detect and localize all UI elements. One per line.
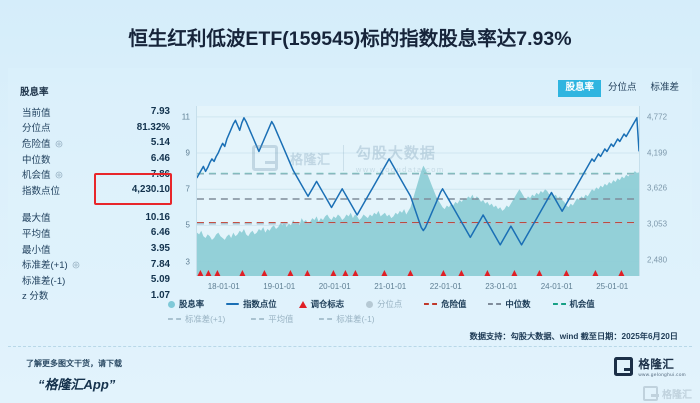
legend-label: 调仓标志 xyxy=(311,298,345,310)
data-source-note: 数据支持：勾股大数据、wind 截至日期：2025年6月20日 xyxy=(470,330,678,342)
legend-item[interactable]: 平均值 xyxy=(251,313,293,325)
stat-row: 最小值3.95 xyxy=(22,241,170,257)
legend-triangle-icon xyxy=(299,301,307,308)
stat-row: 标准差(+1)7.84 xyxy=(22,256,170,272)
legend-label: 指数点位 xyxy=(243,298,277,310)
legend-dash-icon xyxy=(553,303,566,305)
stat-label: 危险值 xyxy=(22,136,51,150)
y-tick-left: 3 xyxy=(186,257,190,266)
legend-row-secondary: 标准差(+1)平均值标准差(-1) xyxy=(168,312,688,326)
x-tick: 19-01-01 xyxy=(263,282,295,291)
rebalance-marker-icon xyxy=(619,270,625,276)
legend-dash-icon xyxy=(424,303,437,305)
y-tick-left: 5 xyxy=(186,221,190,230)
legend-label: 平均值 xyxy=(268,313,293,325)
chart-card: 股息率 股息率分位点标准差 当前值7.93分位点81.32%危险值5.14中位数… xyxy=(8,68,692,336)
plot-svg xyxy=(197,106,639,276)
stats-group-secondary: 最大值10.16平均值6.46最小值3.95标准差(+1)7.84标准差(-1)… xyxy=(22,210,170,304)
tab-3[interactable]: 标准差 xyxy=(643,80,686,97)
stat-value: 81.32% xyxy=(137,122,170,133)
rebalance-marker-icon xyxy=(459,270,465,276)
stat-label: 最小值 xyxy=(22,242,51,256)
stat-label: 分位点 xyxy=(22,120,51,134)
brand-url: www.gelonghui.com xyxy=(638,372,686,377)
rebalance-marker-icon xyxy=(342,270,348,276)
brand-logo-text: 格隆汇 www.gelonghui.com xyxy=(638,356,686,377)
legend-label: 危险值 xyxy=(441,298,466,310)
legend-item[interactable]: 指数点位 xyxy=(226,298,277,310)
brand-logo-ghost-name: 格隆汇 xyxy=(662,386,692,401)
legend-label: 中位数 xyxy=(505,298,530,310)
stat-label: z 分数 xyxy=(22,288,48,302)
stat-row: 分位点81.32% xyxy=(22,120,170,136)
y-tick-right: 3,626 xyxy=(647,184,667,193)
x-axis: 18-01-0119-01-0120-01-0121-01-0122-01-01… xyxy=(196,282,640,296)
stat-row: 机会值7.86 xyxy=(22,166,170,182)
chart-legend: 股息率指数点位调仓标志分位点危险值中位数机会值 标准差(+1)平均值标准差(-1… xyxy=(168,296,688,326)
page-title: 恒生红利低波ETF(159545)标的指数股息率达7.93% xyxy=(0,22,700,51)
legend-dash-icon xyxy=(251,318,264,320)
legend-dot-icon xyxy=(366,301,373,308)
x-tick: 25-01-01 xyxy=(596,282,628,291)
brand-name: 格隆汇 xyxy=(638,356,686,372)
y-tick-right: 4,199 xyxy=(647,148,667,157)
gear-icon[interactable] xyxy=(72,261,80,269)
metric-tabs[interactable]: 股息率分位点标准差 xyxy=(558,80,686,97)
gear-icon[interactable] xyxy=(55,140,63,148)
legend-item[interactable]: 标准差(-1) xyxy=(319,313,374,325)
x-tick: 21-01-01 xyxy=(374,282,406,291)
rebalance-marker-icon xyxy=(352,270,358,276)
stat-row: 最大值10.16 xyxy=(22,210,170,226)
rebalance-marker-icon xyxy=(381,270,387,276)
chart-area: 357911 2,4803,0533,6264,1994,772 格隆汇 勾股大… xyxy=(168,102,686,324)
x-tick: 18-01-01 xyxy=(208,282,240,291)
legend-label: 机会值 xyxy=(570,298,595,310)
legend-dot-icon xyxy=(168,301,175,308)
stat-row: 中位数6.46 xyxy=(22,151,170,167)
tab-2[interactable]: 分位点 xyxy=(601,80,644,97)
stat-label: 标准差(-1) xyxy=(22,273,65,287)
stat-label: 机会值 xyxy=(22,167,51,181)
rebalance-marker-icon xyxy=(305,270,311,276)
rebalance-marker-icon xyxy=(206,270,212,276)
legend-label: 标准差(-1) xyxy=(336,313,374,325)
legend-row-primary: 股息率指数点位调仓标志分位点危险值中位数机会值 xyxy=(168,296,688,312)
tab-1[interactable]: 股息率 xyxy=(558,80,601,97)
rebalance-marker-icon xyxy=(330,270,336,276)
stats-table: 当前值7.93分位点81.32%危险值5.14中位数6.46机会值7.86指数点… xyxy=(22,104,170,303)
legend-item[interactable]: 机会值 xyxy=(553,298,595,310)
x-tick: 24-01-01 xyxy=(541,282,573,291)
promo-line-1: 了解更多图文干货，请下载 xyxy=(26,358,122,369)
brand-logo: 格隆汇 www.gelonghui.com xyxy=(614,356,686,377)
legend-dash-icon xyxy=(319,318,332,320)
rebalance-marker-icon xyxy=(261,270,267,276)
rebalance-marker-icon xyxy=(440,270,446,276)
infographic-root: 恒生红利低波ETF(159545)标的指数股息率达7.93% 股息率 股息率分位… xyxy=(0,0,700,403)
gear-icon[interactable] xyxy=(55,171,63,179)
area-series-dividend-yield xyxy=(197,166,639,276)
stat-row: 平均值6.46 xyxy=(22,225,170,241)
stat-label: 指数点位 xyxy=(22,183,60,197)
stat-row: 当前值7.93 xyxy=(22,104,170,120)
legend-label: 分位点 xyxy=(377,298,402,310)
rebalance-marker-icon xyxy=(563,270,569,276)
stats-group-primary: 当前值7.93分位点81.32%危险值5.14中位数6.46机会值7.86指数点… xyxy=(22,104,170,198)
rebalance-marker-icon xyxy=(511,270,517,276)
y-axis-left: 357911 xyxy=(168,106,194,276)
rebalance-marker-icon xyxy=(215,270,221,276)
legend-label: 标准差(+1) xyxy=(185,313,225,325)
rebalance-marker-icon xyxy=(408,270,414,276)
stat-label: 标准差(+1) xyxy=(22,257,68,271)
legend-dash-icon xyxy=(488,303,501,305)
y-tick-right: 4,772 xyxy=(647,113,667,122)
x-tick: 23-01-01 xyxy=(485,282,517,291)
promo-line-2: “格隆汇App” xyxy=(38,374,122,393)
legend-item[interactable]: 调仓标志 xyxy=(299,298,345,310)
legend-item[interactable]: 危险值 xyxy=(424,298,466,310)
legend-item[interactable]: 分位点 xyxy=(366,298,402,310)
rebalance-marker-icon xyxy=(592,270,598,276)
footer-divider xyxy=(8,346,692,347)
stat-row: 危险值5.14 xyxy=(22,135,170,151)
brand-logo-ghost-icon xyxy=(643,386,658,401)
rebalance-marker-icon xyxy=(198,270,204,276)
x-tick: 22-01-01 xyxy=(430,282,462,291)
stat-label: 当前值 xyxy=(22,105,51,119)
stat-row: z 分数1.07 xyxy=(22,288,170,304)
y-axis-right: 2,4803,0533,6264,1994,772 xyxy=(642,106,686,276)
rebalance-marker-icon xyxy=(239,270,245,276)
legend-line-icon xyxy=(226,303,239,305)
stat-value: 10.16 xyxy=(145,212,170,223)
legend-item[interactable]: 标准差(+1) xyxy=(168,313,225,325)
app-promo: 了解更多图文干货，请下载 “格隆汇App” xyxy=(26,358,122,393)
legend-dash-icon xyxy=(168,318,181,320)
rebalance-marker-icon xyxy=(485,270,491,276)
plot-canvas: 格隆汇 勾股大数据 www.gogudata.com xyxy=(196,106,640,276)
y-tick-right: 2,480 xyxy=(647,255,667,264)
rebalance-marker-icon xyxy=(288,270,294,276)
stats-spacer xyxy=(22,198,170,210)
rebalance-marker-icon xyxy=(536,270,542,276)
legend-label: 股息率 xyxy=(179,298,204,310)
stat-label: 最大值 xyxy=(22,210,51,224)
brand-logo-icon xyxy=(614,357,633,376)
y-tick-right: 3,053 xyxy=(647,220,667,229)
rebalance-markers xyxy=(196,270,640,282)
stat-row: 标准差(-1)5.09 xyxy=(22,272,170,288)
stat-label: 中位数 xyxy=(22,152,51,166)
panel-label: 股息率 xyxy=(20,84,49,98)
stat-value: 4,230.10 xyxy=(132,184,170,195)
y-tick-left: 7 xyxy=(186,185,190,194)
y-tick-left: 11 xyxy=(182,112,190,121)
stat-label: 平均值 xyxy=(22,226,51,240)
x-tick: 20-01-01 xyxy=(319,282,351,291)
y-tick-left: 9 xyxy=(186,149,190,158)
legend-item[interactable]: 股息率 xyxy=(168,298,204,310)
stat-row: 指数点位4,230.10 xyxy=(22,182,170,198)
brand-logo-ghost: 格隆汇 xyxy=(643,386,692,401)
legend-item[interactable]: 中位数 xyxy=(488,298,530,310)
